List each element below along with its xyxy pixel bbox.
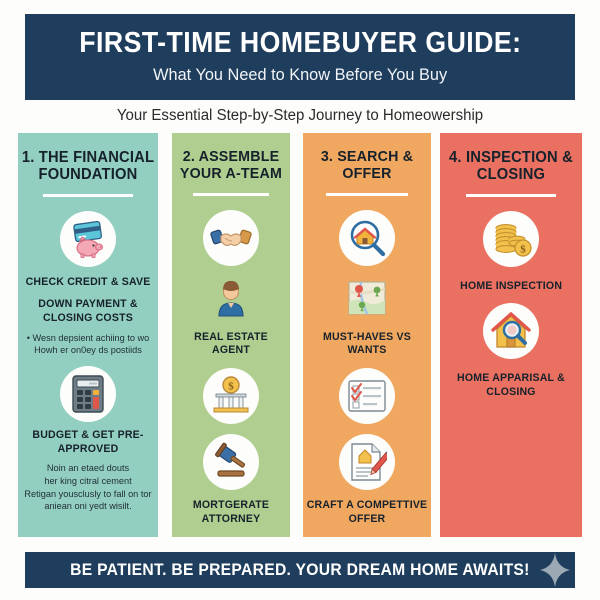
step-title: 3. SEARCH & OFFER (306, 149, 428, 183)
svg-text:$: $ (228, 381, 234, 393)
step-column-assemble-team: 2. ASSEMBLE YOUR A-TEAM (172, 133, 290, 537)
credit-card-piggy-bank-icon (60, 211, 116, 267)
real-estate-agent-icon (207, 274, 255, 322)
sparkle-diamond-icon (537, 552, 573, 588)
step-column-financial-foundation: 1. THE FINANCIAL FOUNDATION (18, 133, 158, 537)
map-pin-icon (343, 274, 391, 322)
page-subtitle: What You Need to Know Before You Buy (153, 66, 447, 85)
step-label-home-appraisal: HOME APPARISAL & CLOSING (443, 372, 579, 400)
step-label-budget-preapproved: BUDGET & GET PRE-APPROVED (21, 429, 155, 457)
gavel-icon (203, 434, 259, 490)
list-item: Retigan yousclusly to fall on tor aniean… (24, 489, 152, 513)
step-note-financial: • Wesn depsient achiing to wo Howh er on… (26, 332, 150, 356)
title-divider (43, 194, 133, 197)
header-banner: FIRST-TIME HOMEBUYER GUIDE: What You Nee… (25, 14, 575, 100)
steps-container: 1. THE FINANCIAL FOUNDATION (0, 133, 600, 537)
checklist-icon (339, 368, 395, 424)
footer-text: BE PATIENT. BE PREPARED. YOUR DREAM HOME… (70, 561, 530, 580)
step-label-real-estate-agent: REAL ESTATE AGENT (174, 331, 287, 359)
step-column-inspection-closing: 4. INSPECTION & CLOSING (440, 133, 582, 537)
tagline: Your Essential Step-by-Step Journey to H… (9, 100, 591, 132)
handshake-icon (203, 210, 259, 266)
coins-stack-icon: $ (483, 211, 539, 267)
svg-text:$: $ (520, 243, 526, 255)
step-label-home-inspection: HOME INSPECTION (460, 280, 562, 294)
footer-banner: BE PATIENT. BE PREPARED. YOUR DREAM HOME… (25, 552, 575, 588)
title-divider (193, 193, 269, 196)
step-title: 2. ASSEMBLE YOUR A-TEAM (175, 149, 287, 183)
house-magnifier-icon (483, 303, 539, 359)
title-divider (326, 193, 408, 196)
list-item: Noin an etaed douts (24, 463, 152, 475)
step-title: 1. THE FINANCIAL FOUNDATION (22, 149, 155, 184)
step-label-down-payment: DOWN PAYMENT & CLOSING COSTS (21, 298, 155, 326)
step-bullets-financial: Noin an etaed douts her king citral ceme… (24, 463, 152, 514)
magnifier-house-icon (339, 210, 395, 266)
page-title: FIRST-TIME HOMEBUYER GUIDE: (79, 29, 521, 59)
infographic-page: FIRST-TIME HOMEBUYER GUIDE: What You Nee… (0, 0, 600, 600)
step-title: 4. INSPECTION & CLOSING (444, 149, 579, 184)
title-divider (466, 194, 557, 197)
list-item: her king citral cement (24, 476, 152, 488)
step-label-mortgage-attorney: MORTGERATE ATTORNEY (174, 499, 287, 527)
bank-dollar-icon: $ (203, 368, 259, 424)
document-pen-icon (339, 434, 395, 490)
calculator-icon (60, 366, 116, 422)
step-column-search-offer: 3. SEARCH & OFFER (303, 133, 431, 537)
step-label-must-haves: MUST-HAVES VS WANTS (306, 331, 429, 359)
step-label-check-credit: CHECK CREDIT & SAVE (26, 276, 151, 290)
step-label-craft-offer: CRAFT A COMPETTIVE OFFER (306, 499, 429, 527)
